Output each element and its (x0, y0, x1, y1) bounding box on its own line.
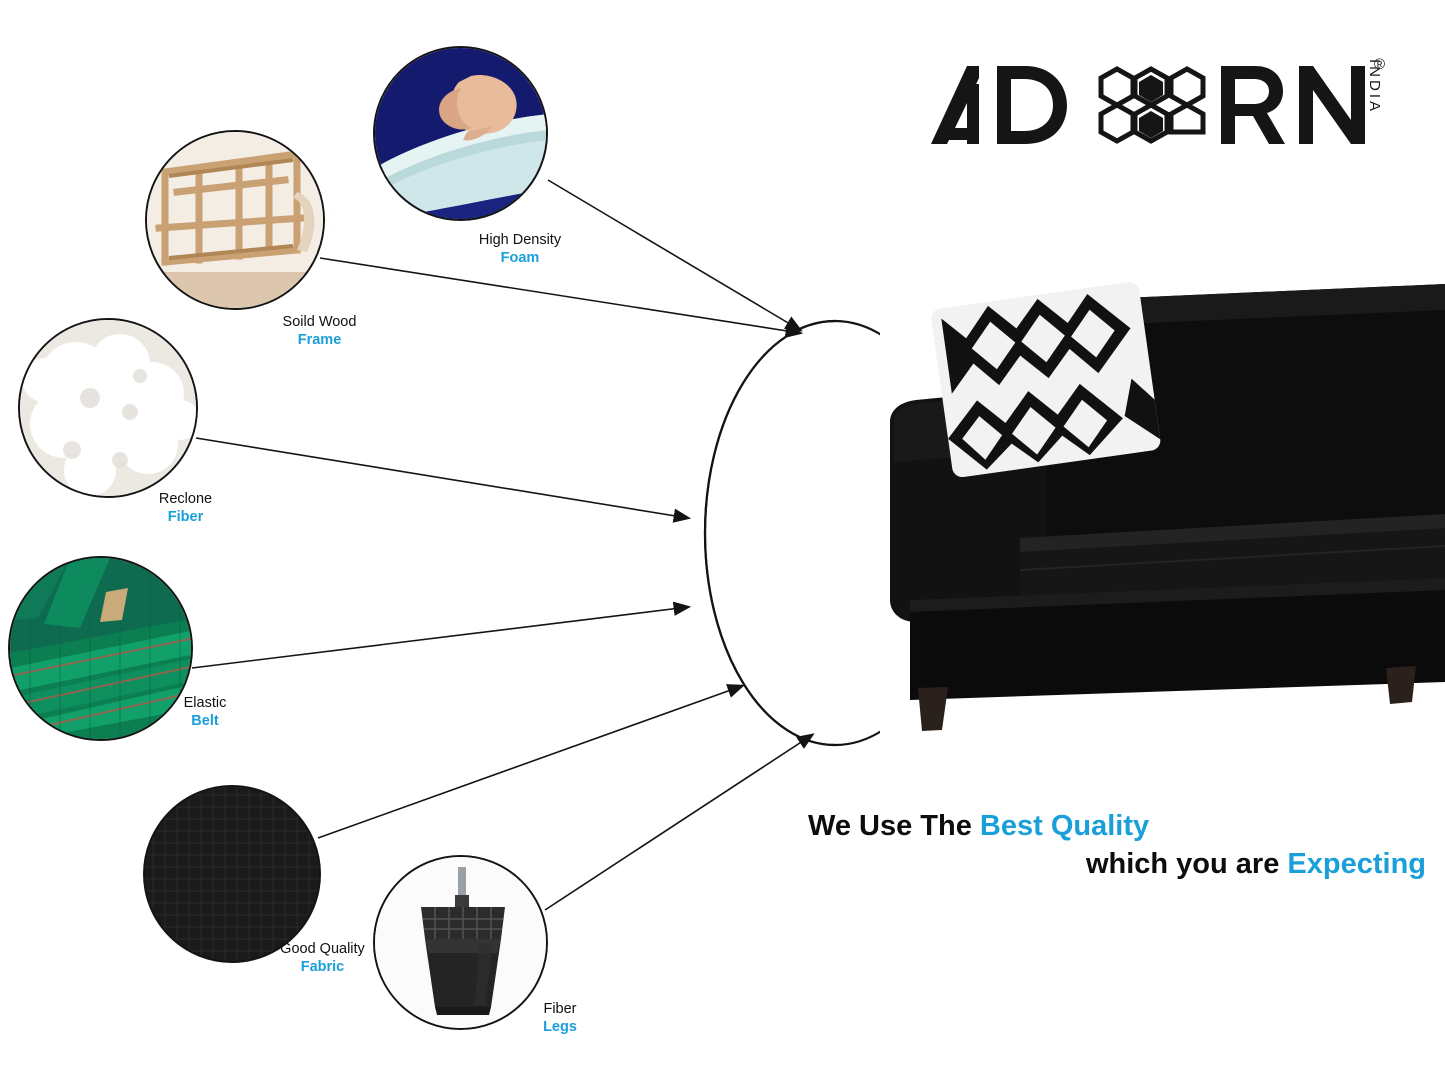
label-line2: Legs (505, 1018, 615, 1036)
swatch-solid-wood-frame (145, 130, 325, 310)
adorn-logo-mark (925, 48, 1385, 168)
label-line1: Soild Wood (232, 313, 407, 331)
product-infographic: ® INDIA High Density Foam (0, 0, 1445, 1084)
label-line1: High Density (430, 231, 610, 249)
label-reclone-fiber: Reclone Fiber (108, 490, 263, 526)
swatch-high-density-foam (373, 46, 548, 221)
label-high-density-foam: High Density Foam (430, 231, 610, 267)
line-legs (545, 735, 812, 910)
label-line2: Belt (130, 712, 280, 730)
label-line2: Fiber (108, 508, 263, 526)
brand-logo: ® INDIA (925, 48, 1385, 168)
label-fiber-legs: Fiber Legs (505, 1000, 615, 1036)
brand-sub-label: INDIA (1366, 59, 1383, 114)
label-line1: Fiber (505, 1000, 615, 1018)
label-line1: Elastic (130, 694, 280, 712)
line-fabric (318, 686, 742, 838)
label-line2: Frame (232, 331, 407, 349)
tagline-line2-highlight: Expecting (1287, 848, 1426, 880)
tagline-line1-plain: We Use The (808, 810, 980, 842)
tagline-line2-plain: which you are (1086, 848, 1287, 880)
line-fiber (196, 438, 688, 518)
swatch-reclone-fiber (18, 318, 198, 498)
tagline-line1-highlight: Best Quality (980, 810, 1149, 842)
swatch-good-quality-fabric (143, 785, 321, 963)
label-line1: Reclone (108, 490, 263, 508)
line-belt (192, 607, 688, 668)
tagline-line2: which you are Expecting (800, 846, 1430, 884)
product-sofa-image (870, 270, 1445, 760)
label-elastic-belt: Elastic Belt (130, 694, 280, 730)
tagline-line1: We Use The Best Quality (800, 808, 1430, 846)
label-solid-wood-frame: Soild Wood Frame (232, 313, 407, 349)
label-line2: Foam (430, 249, 610, 267)
tagline: We Use The Best Quality which you are Ex… (800, 808, 1430, 883)
